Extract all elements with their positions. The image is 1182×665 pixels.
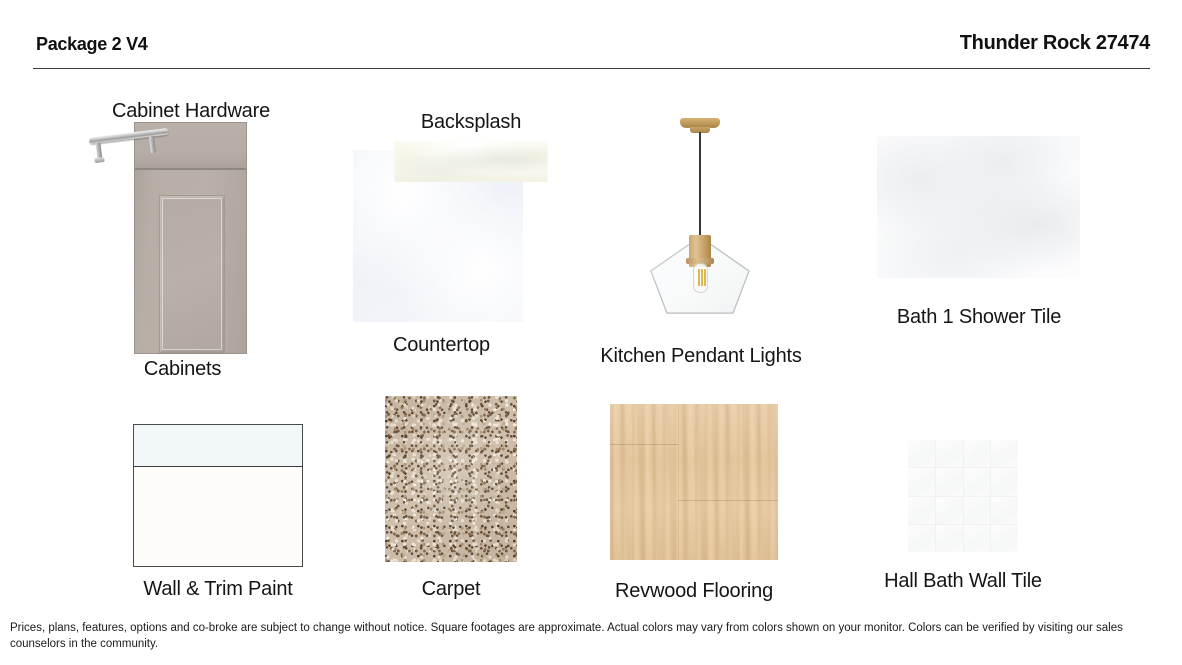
carpet-label: Carpet [390,578,512,601]
tile-cell [991,525,1018,552]
bulb-filament [698,269,700,286]
tile-cell [964,440,991,467]
tile-cell [991,497,1018,524]
revwood-flooring-swatch [610,404,778,560]
trim-paint-band [134,468,302,566]
tile-cell [908,497,935,524]
tile-cell [936,497,963,524]
cabinet-bar-pull-icon [86,122,177,182]
tile-cell [991,440,1018,467]
header-divider [33,68,1150,69]
tile-cell [936,525,963,552]
tile-cell [908,525,935,552]
tile-cell [908,468,935,495]
bath-1-shower-tile-label: Bath 1 Shower Tile [855,306,1103,329]
carpet-shading-overlay [385,396,517,562]
cabinet-hardware-label: Cabinet Hardware [105,100,277,123]
tile-cell [991,468,1018,495]
tile-cell [964,497,991,524]
cabinet-panel-bevel [162,198,222,350]
page-title: Package 2 V4 [36,34,147,55]
bar-pull-post-right [149,136,156,153]
carpet-swatch [385,396,517,562]
bulb-filament [704,269,706,286]
wall-paint-band [134,425,302,467]
cabinet-shaker-panel [159,195,225,353]
bar-pull-foot-left [94,157,105,163]
cabinets-label: Cabinets [105,358,260,381]
plank-seam-horizontal [678,500,778,501]
bath-1-shower-tile-swatch [877,136,1080,278]
wall-trim-paint-label: Wall & Trim Paint [118,578,318,601]
pendant-bulb [693,263,708,293]
backsplash-swatch [394,140,548,182]
tile-cell [964,525,991,552]
backsplash-label: Backsplash [390,111,552,134]
pendant-rod [699,132,701,237]
tile-cell [936,468,963,495]
countertop-label: Countertop [360,334,523,357]
hall-bath-wall-tile-label: Hall Bath Wall Tile [838,570,1088,593]
tile-cell [908,440,935,467]
revwood-flooring-label: Revwood Flooring [585,580,803,603]
kitchen-pendant-lights-label: Kitchen Pendant Lights [560,345,842,368]
plank-seam-horizontal [610,444,678,445]
page-header: Package 2 V4 Thunder Rock 27474 [0,0,1182,70]
disclaimer-text: Prices, plans, features, options and co-… [10,620,1160,652]
wall-trim-paint-swatch [133,424,303,567]
plank-seam-vertical [678,404,679,560]
bar-pull-rod [89,128,169,145]
community-name: Thunder Rock 27474 [960,32,1150,55]
tile-cell [936,440,963,467]
hall-bath-wall-tile-swatch [908,440,1018,552]
kitchen-pendant-light-icon [640,118,760,323]
bulb-filament [701,269,703,286]
tile-cell [964,468,991,495]
